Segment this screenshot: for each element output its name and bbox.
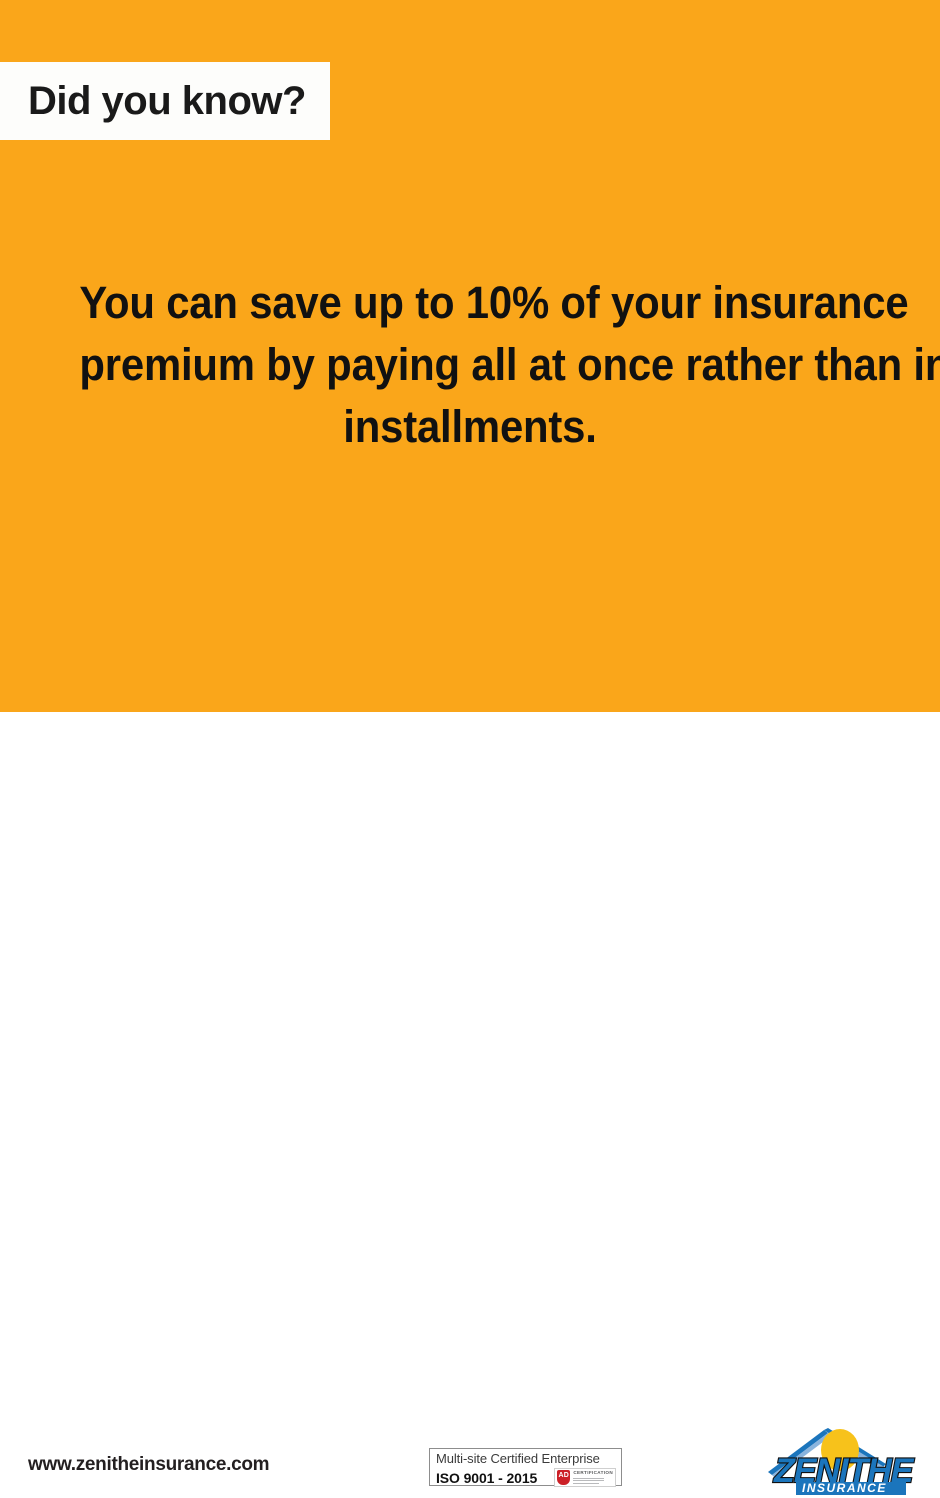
iso-badge-title: Multi-site Certified Enterprise — [436, 1451, 616, 1467]
headline-text: Did you know? — [28, 81, 306, 121]
iso-badge-bottom-row: ISO 9001 - 2015 AD CERTIFICATION — [436, 1468, 616, 1487]
footer-bar: www.zenitheinsurance.com Multi-site Cert… — [0, 712, 940, 788]
certification-mark-text: CERTIFICATION — [573, 1471, 613, 1483]
poster-canvas: Did you know? You can save up to 10% of … — [0, 0, 940, 788]
zenithe-insurance-logo: ZENITHE INSURANCE — [762, 1424, 922, 1498]
message-line-3: installments. — [79, 396, 860, 458]
shield-icon: AD — [557, 1470, 570, 1485]
iso-certification-badge: Multi-site Certified Enterprise ISO 9001… — [429, 1448, 622, 1486]
certification-mark-rule-1 — [573, 1478, 604, 1479]
certification-word: CERTIFICATION — [573, 1471, 613, 1476]
message-line-2: premium by paying all at once rather tha… — [79, 334, 860, 396]
message-line-1: You can save up to 10% of your insurance — [79, 272, 860, 334]
main-message: You can save up to 10% of your insurance… — [50, 272, 890, 458]
certification-body-initials: AD — [557, 1472, 570, 1480]
brand-tagline: INSURANCE — [802, 1481, 887, 1495]
website-url[interactable]: www.zenitheinsurance.com — [28, 1454, 269, 1476]
headline-banner: Did you know? — [0, 62, 330, 140]
iso-standard-label: ISO 9001 - 2015 — [436, 1470, 537, 1486]
certification-mark-rule-3 — [573, 1483, 599, 1484]
certification-mark-rule-2 — [573, 1480, 604, 1481]
certification-body-mark: AD CERTIFICATION — [554, 1468, 616, 1487]
